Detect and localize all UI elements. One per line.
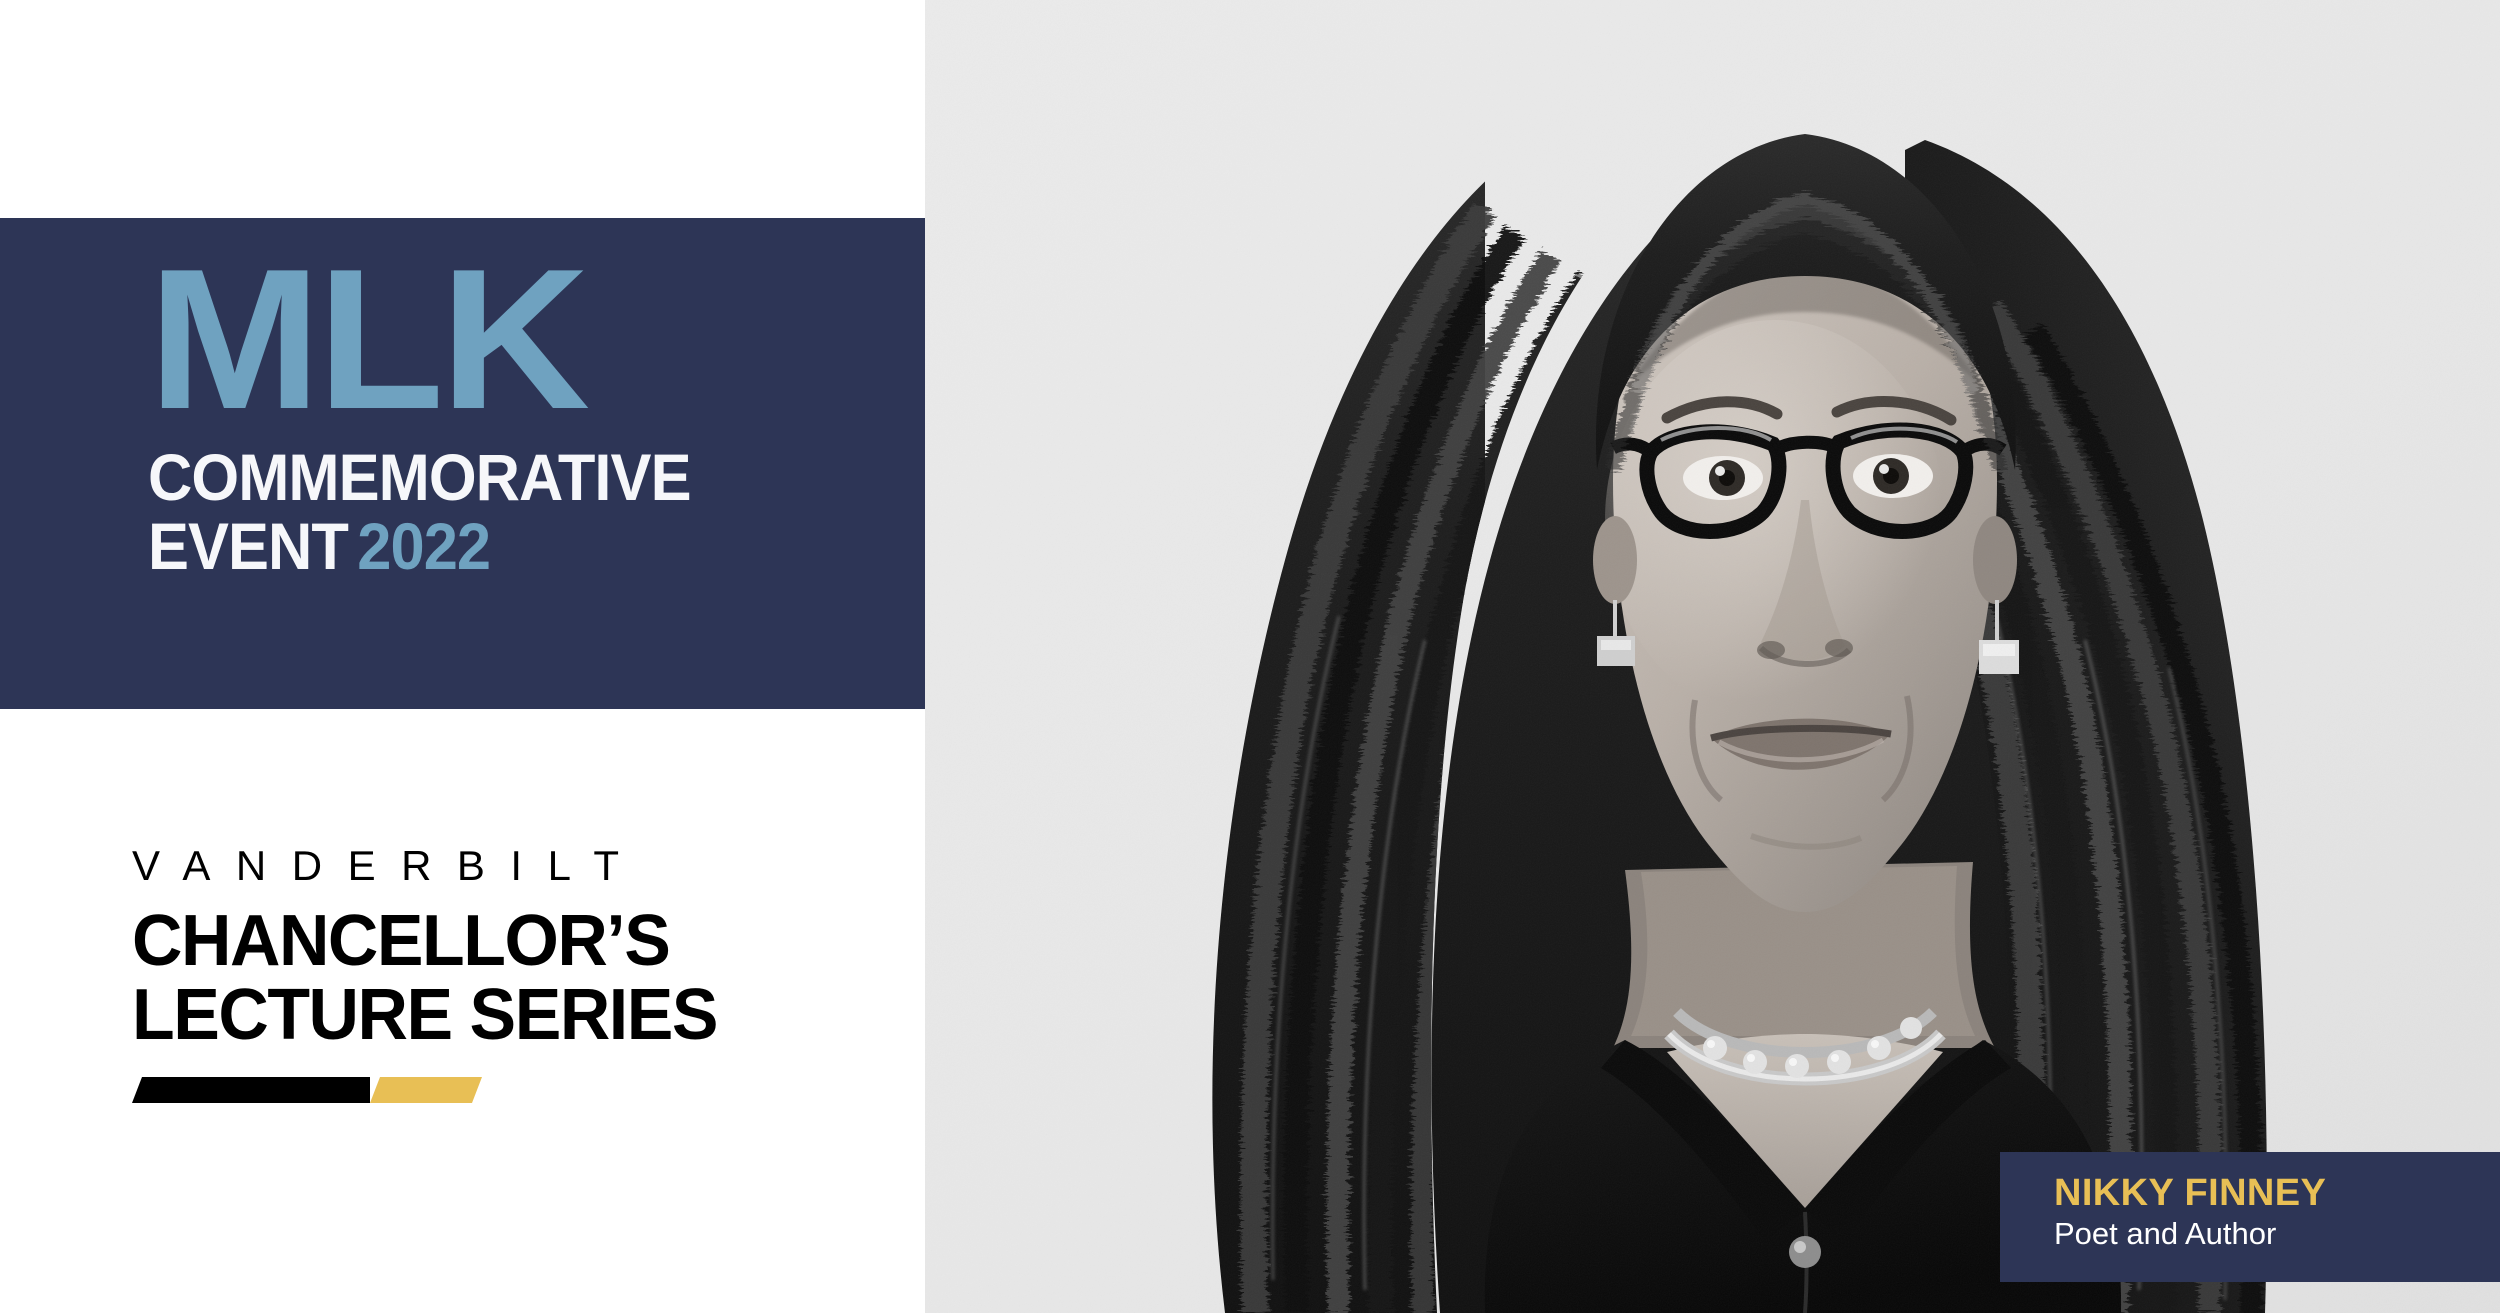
accent-rule: [132, 1077, 482, 1103]
accent-rule-black-segment: [132, 1077, 370, 1103]
left-panel: MLK COMMEMORATIVE EVENT2022 VANDERBILT C…: [0, 0, 925, 1313]
speaker-name: NIKKY FINNEY: [2054, 1174, 2500, 1214]
chancellors-label: CHANCELLOR’S: [132, 905, 792, 977]
mlk-event-year: 2022: [357, 509, 490, 583]
mlk-acronym: MLK: [148, 258, 897, 422]
jacket-button: [1789, 1236, 1821, 1268]
portrait-illustration: [925, 0, 2500, 1313]
speaker-portrait: [925, 0, 2500, 1313]
mlk-commemorative-event-poster: MLK COMMEMORATIVE EVENT2022 VANDERBILT C…: [0, 0, 2500, 1313]
mlk-commemorative-label: COMMEMORATIVE: [148, 446, 818, 509]
ear-left: [1593, 516, 1637, 604]
ear-right: [1973, 516, 2017, 604]
vanderbilt-wordmark: VANDERBILT: [132, 845, 812, 887]
mlk-event-label: EVENT: [148, 509, 348, 583]
accent-rule-gold-segment: [370, 1077, 482, 1103]
vanderbilt-chancellors-lecture-series-logo: VANDERBILT CHANCELLOR’S LECTURE SERIES: [132, 845, 812, 1103]
mlk-badge-inner: MLK COMMEMORATIVE EVENT2022: [148, 258, 868, 579]
lecture-series-label: LECTURE SERIES: [132, 979, 792, 1051]
mlk-event-year-line: EVENT2022: [148, 515, 818, 578]
mlk-badge: MLK COMMEMORATIVE EVENT2022: [0, 218, 925, 709]
speaker-role: Poet and Author: [2054, 1216, 2500, 1253]
speaker-nameplate: NIKKY FINNEY Poet and Author: [2000, 1152, 2500, 1282]
